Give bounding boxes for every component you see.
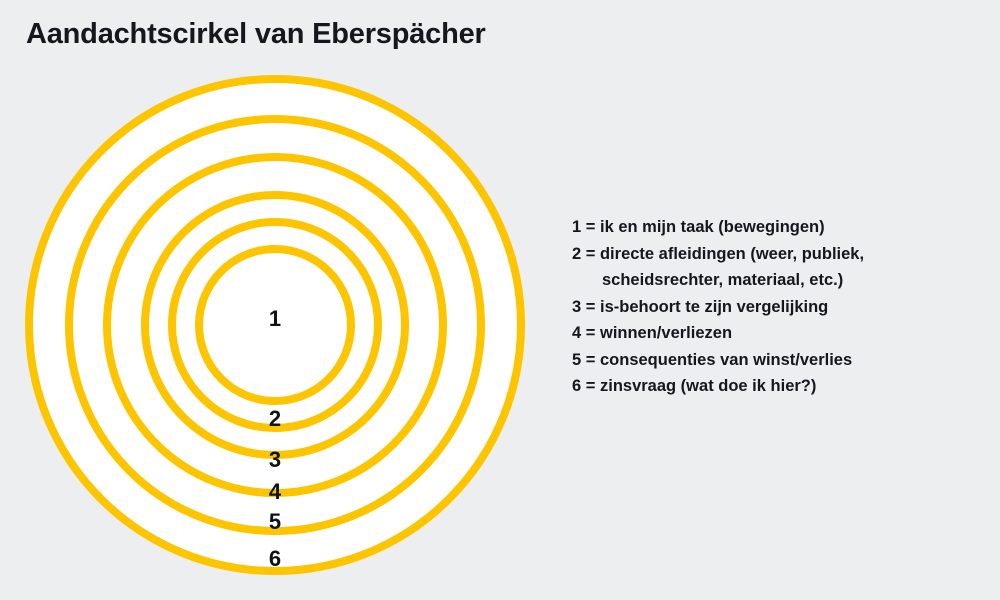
ring-label-6: 6 <box>255 548 295 570</box>
legend-item-2: 2 = directe afleidingen (weer, publiek, <box>572 241 972 268</box>
page-root: Aandachtscirkel van Eberspächer 1 2 3 4 … <box>0 0 1000 600</box>
legend-item-3: 3 = is-behoort te zijn vergelijking <box>572 294 972 321</box>
legend-item-4: 4 = winnen/verliezen <box>572 320 972 347</box>
page-title: Aandachtscirkel van Eberspächer <box>26 18 486 51</box>
ring-label-4: 4 <box>255 481 295 503</box>
legend-item-2-continuation: scheidsrechter, materiaal, etc.) <box>572 267 972 294</box>
ring-label-1: 1 <box>255 308 295 330</box>
ring-label-2: 2 <box>255 408 295 430</box>
legend: 1 = ik en mijn taak (bewegingen) 2 = dir… <box>572 214 972 400</box>
legend-item-6: 6 = zinsvraag (wat doe ik hier?) <box>572 373 972 400</box>
ring-label-5: 5 <box>255 511 295 533</box>
legend-item-5: 5 = consequenties van winst/verlies <box>572 347 972 374</box>
legend-item-1: 1 = ik en mijn taak (bewegingen) <box>572 214 972 241</box>
ring-label-3: 3 <box>255 449 295 471</box>
attention-circles-diagram: 1 2 3 4 5 6 <box>0 60 560 600</box>
